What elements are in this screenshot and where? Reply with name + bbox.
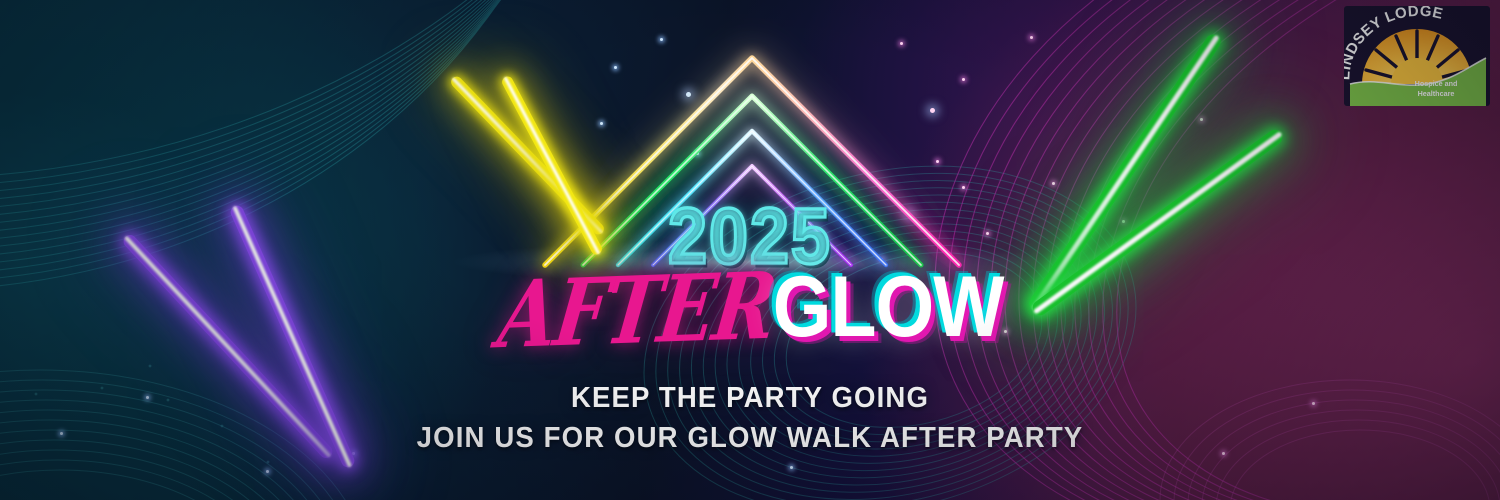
afterglow-event-banner: 2025 AFTERGLOW KEEP THE PARTY GOING JOIN…: [0, 0, 1500, 500]
vignette-overlay: [0, 0, 1500, 500]
